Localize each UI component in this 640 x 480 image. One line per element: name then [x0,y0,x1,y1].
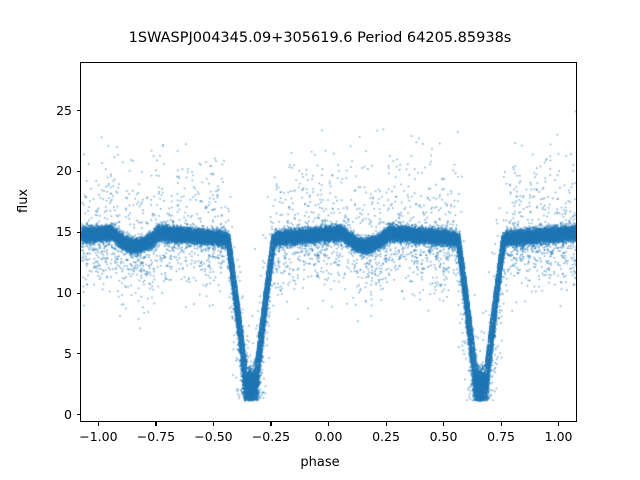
y-tick-label: 25 [30,103,72,118]
matplotlib-figure: 1SWASPJ004345.09+305619.6 Period 64205.8… [0,0,640,480]
y-tick-label: 0 [30,407,72,422]
y-tick-mark [77,232,81,233]
x-tick-mark [98,422,99,426]
y-tick-mark [77,293,81,294]
x-tick-label: 1.00 [524,429,594,444]
y-axis-label: flux [16,189,31,213]
y-tick-label: 5 [30,346,72,361]
chart-title: 1SWASPJ004345.09+305619.6 Period 64205.8… [0,30,640,46]
x-axis-label: phase [0,455,640,470]
x-tick-mark [328,422,329,426]
x-tick-mark [386,422,387,426]
x-tick-mark [501,422,502,426]
y-tick-mark [77,110,81,111]
x-tick-mark [213,422,214,426]
x-tick-mark [443,422,444,426]
y-tick-label: 10 [30,285,72,300]
x-tick-mark [155,422,156,426]
scatter-plot-canvas [81,63,577,422]
y-tick-label: 20 [30,163,72,178]
y-tick-mark [77,171,81,172]
y-tick-mark [77,353,81,354]
y-tick-mark [77,414,81,415]
x-tick-mark [270,422,271,426]
x-tick-mark [558,422,559,426]
plot-axes [80,62,577,422]
y-tick-label: 15 [30,224,72,239]
